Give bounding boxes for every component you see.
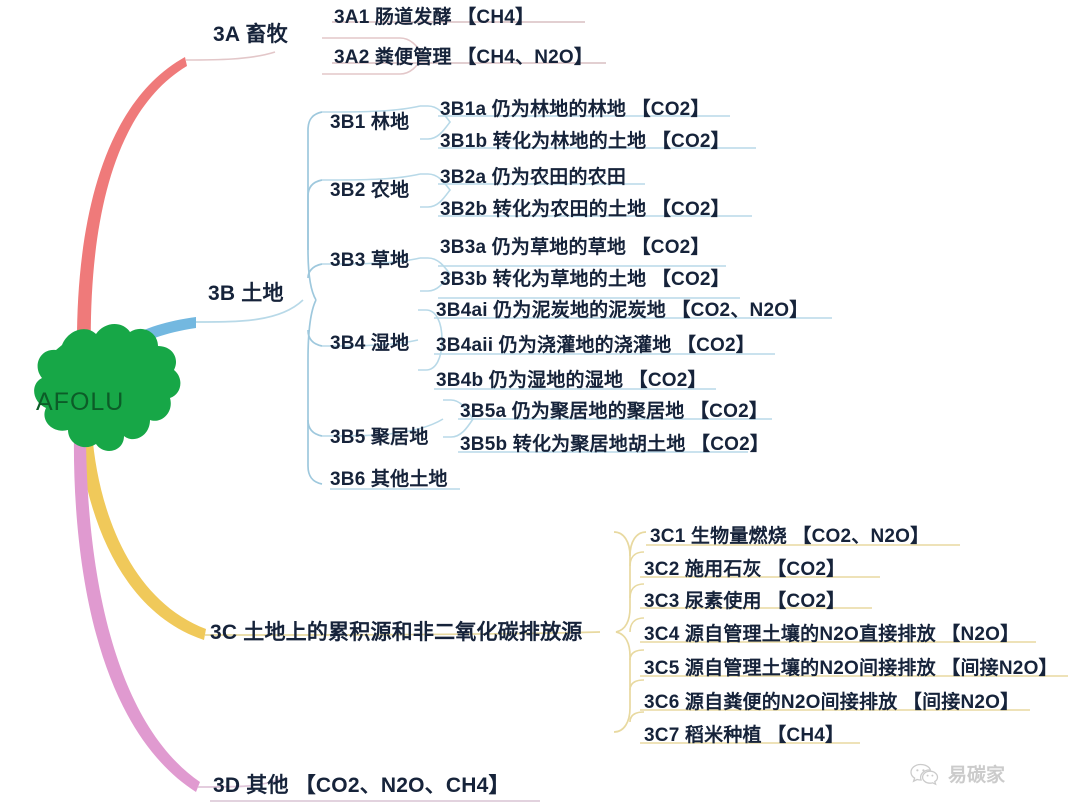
node-3C1[interactable]: 3C1 生物量燃烧 【CO2、N2O】 bbox=[650, 521, 929, 551]
node-3B1[interactable]: 3B1 林地 bbox=[330, 107, 409, 134]
node-3B6[interactable]: 3B6 其他土地 bbox=[330, 464, 448, 491]
node-3B3[interactable]: 3B3 草地 bbox=[330, 245, 409, 272]
node-3B2b[interactable]: 3B2b 转化为农田的土地 【CO2】 bbox=[440, 194, 730, 224]
center-node-label[interactable]: AFOLU bbox=[36, 388, 124, 417]
branch-3B-stem bbox=[86, 317, 196, 389]
branch-3B-spine-mid2 bbox=[308, 264, 322, 278]
node-3C2[interactable]: 3C2 施用石灰 【CO2】 bbox=[644, 554, 845, 584]
node-3A[interactable]: 3A 畜牧 bbox=[213, 18, 288, 48]
node-3C3[interactable]: 3C3 尿素使用 【CO2】 bbox=[644, 586, 845, 616]
node-3B[interactable]: 3B 土地 bbox=[208, 277, 284, 307]
node-3B2a[interactable]: 3B2a 仍为农田的农田 bbox=[440, 162, 626, 192]
fan-3C bbox=[614, 532, 630, 732]
watermark-text: 易碳家 bbox=[948, 760, 1005, 787]
node-3B1a[interactable]: 3B1a 仍为林地的林地 【CO2】 bbox=[440, 94, 710, 124]
node-3B3b[interactable]: 3B3b 转化为草地的土地 【CO2】 bbox=[440, 264, 730, 294]
node-3C5[interactable]: 3C5 源自管理土壤的N2O间接排放 【间接N2O】 bbox=[644, 653, 1058, 683]
node-3B4b[interactable]: 3B4b 仍为湿地的湿地 【CO2】 bbox=[436, 365, 707, 395]
mindmap-canvas: AFOLU 3A 畜牧 3A1 肠道发酵 【CH4】 3A2 粪便管理 【CH4… bbox=[0, 0, 1080, 811]
node-3B5b[interactable]: 3B5b 转化为聚居地胡土地 【CO2】 bbox=[460, 429, 769, 459]
node-3B4aii[interactable]: 3B4aii 仍为浇灌地的浇灌地 【CO2】 bbox=[436, 330, 755, 360]
node-3B3a[interactable]: 3B3a 仍为草地的草地 【CO2】 bbox=[440, 232, 710, 262]
node-3C[interactable]: 3C 土地上的累积源和非二氧化碳排放源 bbox=[210, 616, 582, 646]
branch-3B-spine-mid4 bbox=[308, 420, 322, 436]
node-3B5a[interactable]: 3B5a 仍为聚居地的聚居地 【CO2】 bbox=[460, 396, 768, 426]
branch-3B-spine-mid3 bbox=[308, 330, 322, 346]
branch-3A-stem bbox=[77, 57, 187, 386]
branch-3B-spine-lower bbox=[308, 300, 322, 484]
watermark: 易碳家 bbox=[910, 760, 1005, 787]
node-3B2[interactable]: 3B2 农地 bbox=[330, 175, 409, 202]
node-3C6[interactable]: 3C6 源自粪便的N2O间接排放 【间接N2O】 bbox=[644, 687, 1019, 717]
node-3B4[interactable]: 3B4 湿地 bbox=[330, 328, 409, 355]
node-3B1b[interactable]: 3B1b 转化为林地的土地 【CO2】 bbox=[440, 126, 730, 156]
fan-3C-top bbox=[630, 532, 646, 556]
branch-3D-stem bbox=[74, 430, 200, 792]
branch-3B-spine bbox=[308, 112, 322, 300]
node-3B5[interactable]: 3B5 聚居地 bbox=[330, 422, 429, 449]
branch-3B-spine-mid bbox=[308, 180, 322, 250]
node-3C7[interactable]: 3C7 稻米种植 【CH4】 bbox=[644, 720, 844, 750]
node-3B4ai[interactable]: 3B4ai 仍为泥炭地的泥炭地 【CO2、N2O】 bbox=[436, 295, 808, 325]
node-3D[interactable]: 3D 其他 【CO2、N2O、CH4】 bbox=[213, 769, 510, 799]
node-3C4[interactable]: 3C4 源自管理土壤的N2O直接排放 【N2O】 bbox=[644, 619, 1019, 649]
node-3A2[interactable]: 3A2 粪便管理 【CH4、N2O】 bbox=[334, 42, 593, 72]
wechat-icon bbox=[910, 762, 940, 786]
branch-3A-elbow bbox=[186, 52, 275, 60]
node-3A1[interactable]: 3A1 肠道发酵 【CH4】 bbox=[334, 2, 534, 32]
branch-3C-stem bbox=[78, 432, 206, 640]
fan-3C-branchlets bbox=[630, 552, 644, 722]
